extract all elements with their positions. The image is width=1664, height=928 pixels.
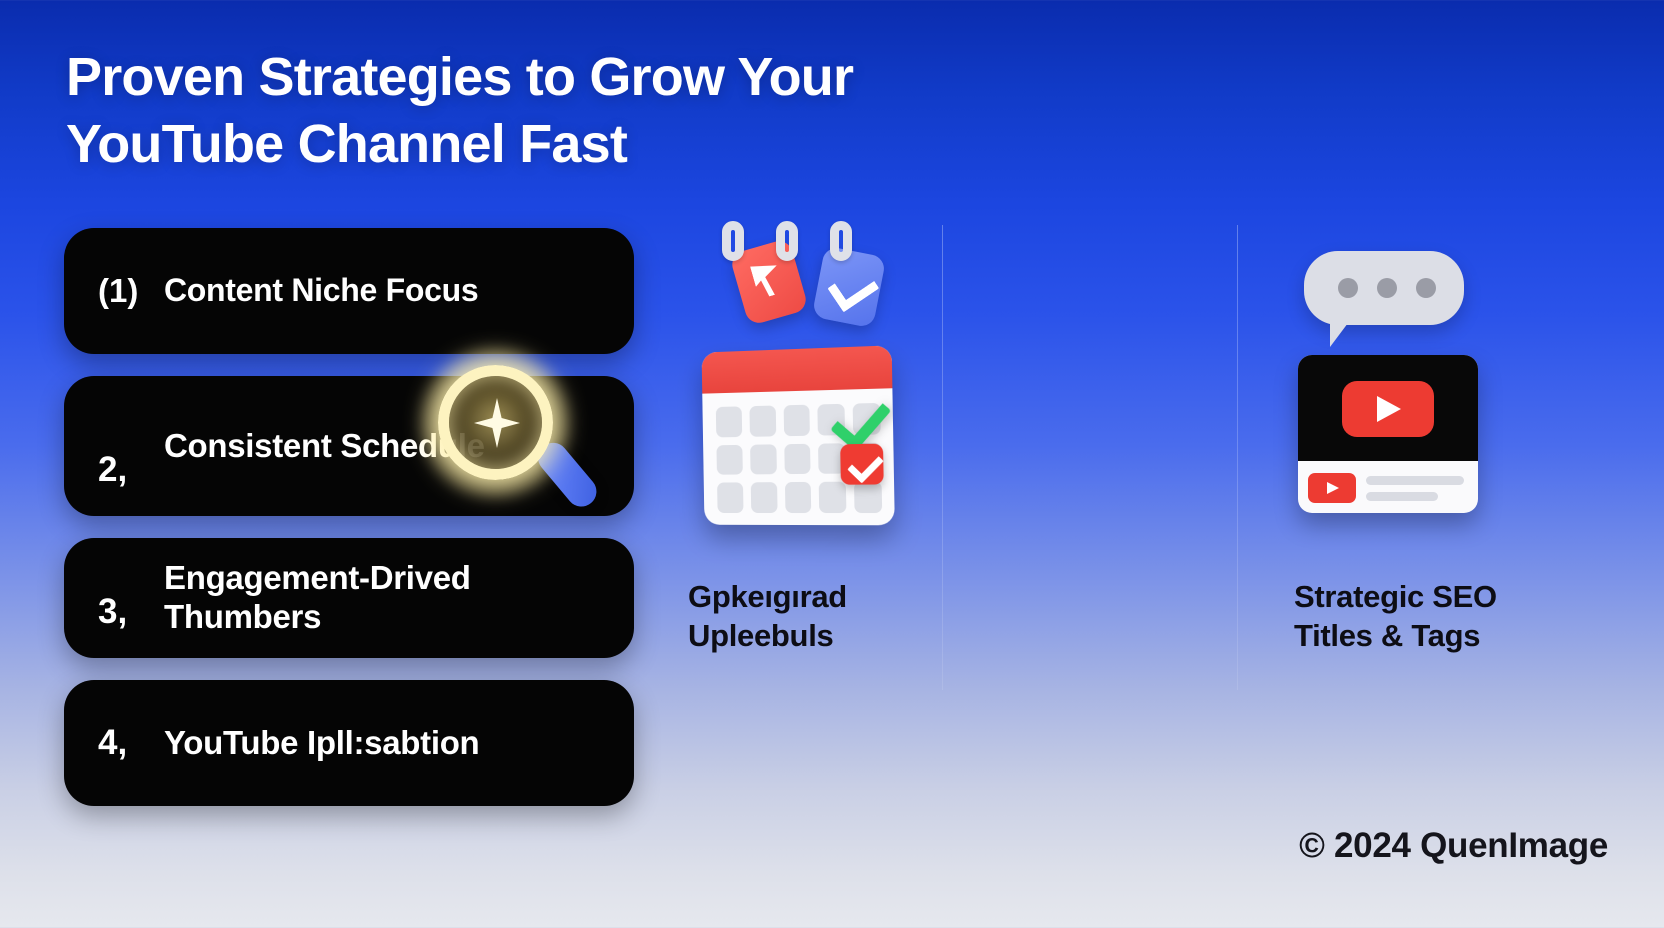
- feature-caption-line1: Gpkeıgırad: [688, 577, 938, 616]
- calendar-ring: [830, 221, 852, 261]
- list-item-label: Engagement-Drived Thumbers: [164, 559, 600, 637]
- feature-column-community[interactable]: Y Community Interaction: [1300, 225, 1620, 690]
- community-illustration: Y: [1300, 225, 1620, 560]
- list-item-number: 3,: [98, 592, 142, 658]
- list-item[interactable]: 3, Engagement-Drived Thumbers: [64, 538, 634, 658]
- list-item-number: 4,: [98, 723, 142, 763]
- red-check-icon: [840, 444, 884, 485]
- calendar-ring: [776, 221, 798, 261]
- calendar-icon: [702, 345, 895, 525]
- calendar-illustration: [660, 225, 980, 560]
- video-illustration: [980, 225, 1300, 560]
- list-item[interactable]: 4, YouTube Ipll:sabtion: [64, 680, 634, 806]
- page-title: Proven Strategies to Grow Your YouTube C…: [66, 44, 1066, 178]
- feature-column-seo[interactable]: Strategic SEO Titles & Tags: [980, 225, 1300, 690]
- strategy-list: (1) Content Niche Focus 2, Consistent Sc…: [64, 228, 634, 828]
- list-item[interactable]: (1) Content Niche Focus: [64, 228, 634, 354]
- calendar-ring: [722, 221, 744, 261]
- magnifier-sparkle-icon: [420, 348, 610, 523]
- list-item-number: (1): [98, 272, 142, 310]
- list-item-number: 2,: [98, 450, 142, 516]
- feature-caption-line2: Upleebuls: [688, 616, 938, 655]
- feature-caption: Gpkeıgırad Upleebuls: [688, 577, 938, 655]
- feature-column-calendar[interactable]: Gpkeıgırad Upleebuls: [660, 225, 980, 690]
- feature-columns: Gpkeıgırad Upleebuls: [660, 225, 1620, 690]
- watermark: © 2024 QuenImage: [1299, 826, 1608, 866]
- green-check-icon: [829, 399, 885, 435]
- list-item-label: Content Niche Focus: [164, 272, 478, 310]
- list-item-label: YouTube Ipll:sabtion: [164, 724, 479, 763]
- check-tag-icon: [812, 246, 887, 329]
- calendar-header: [702, 345, 893, 393]
